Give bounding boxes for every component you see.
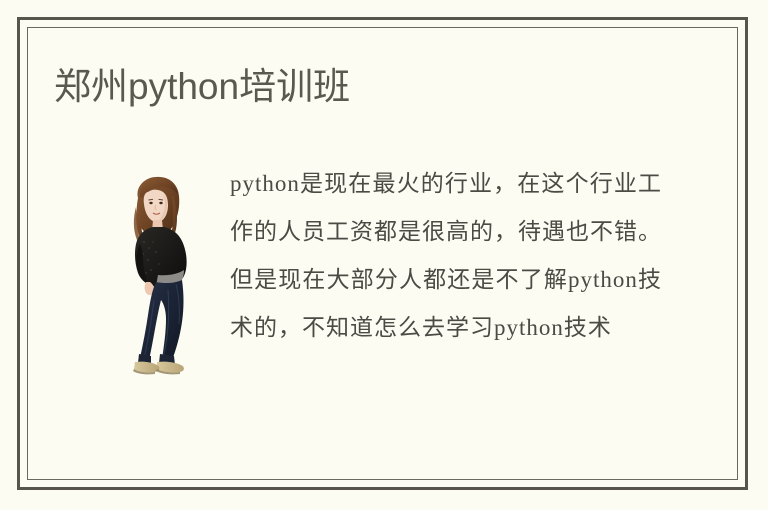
- article-body-text: python是现在最火的行业，在这个行业工作的人员工资都是很高的，待遇也不错。但…: [230, 160, 662, 352]
- article-page: 郑州python培训班: [0, 0, 768, 510]
- photo-standing-woman-icon: [96, 172, 226, 387]
- page-title: 郑州python培训班: [54, 63, 350, 111]
- article-photo: [96, 172, 226, 387]
- article-content: python是现在最火的行业，在这个行业工作的人员工资都是很高的，待遇也不错。但…: [54, 160, 674, 410]
